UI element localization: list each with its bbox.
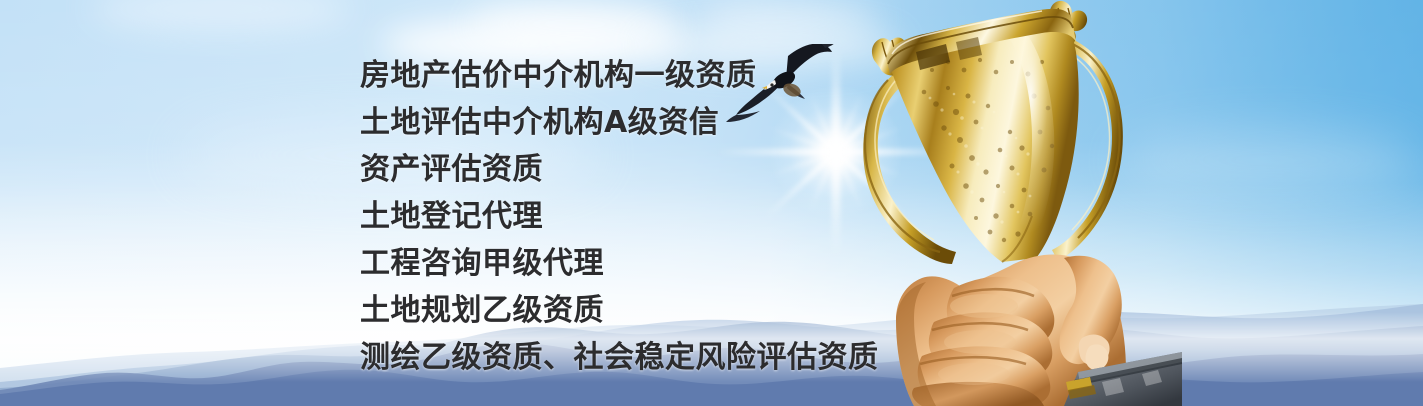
qualification-line: 土地评估中介机构A级资信 (360, 99, 920, 146)
qualification-line: 房地产估价中介机构一级资质 (360, 52, 920, 99)
qualification-line: 资产评估资质 (360, 146, 920, 193)
qualification-line: 测绘乙级资质、社会稳定风险评估资质 (360, 334, 920, 381)
qualification-line: 工程咨询甲级代理 (360, 240, 920, 287)
qualification-line: 土地登记代理 (360, 193, 920, 240)
promotional-banner: 房地产估价中介机构一级资质 土地评估中介机构A级资信 资产评估资质 土地登记代理… (0, 0, 1423, 406)
qualification-line: 土地规划乙级资质 (360, 287, 920, 334)
qualifications-text-block: 房地产估价中介机构一级资质 土地评估中介机构A级资信 资产评估资质 土地登记代理… (360, 52, 920, 381)
